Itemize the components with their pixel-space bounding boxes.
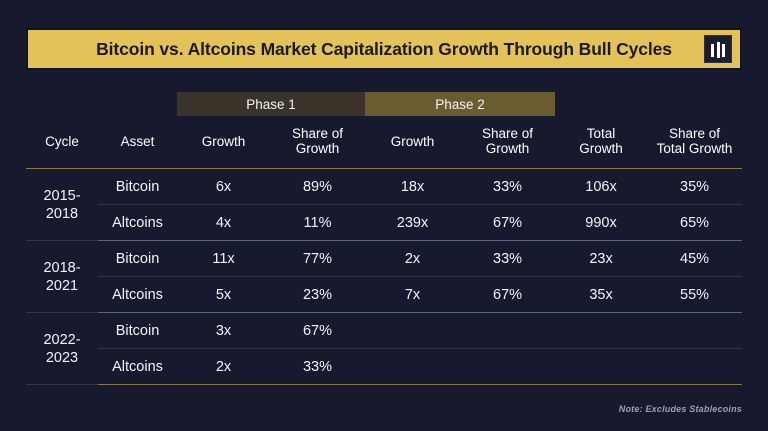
column-header-total_growth: TotalGrowth [555, 116, 647, 169]
cell-total_growth [555, 313, 647, 349]
col-header-label: Cycle [45, 134, 79, 149]
column-header-row: CycleAssetGrowthShare ofGrowthGrowthShar… [26, 116, 742, 169]
column-header-p1_growth: Growth [177, 116, 270, 169]
table-row: Altcoins4x11%239x67%990x65% [26, 205, 742, 241]
cycle-label-line2: 2018 [46, 206, 78, 222]
asset-label: Altcoins [98, 205, 177, 241]
phase-spacer-total [555, 92, 647, 116]
cell-p2_growth: 18x [365, 169, 460, 205]
market-cap-growth-table: Phase 1Phase 2CycleAssetGrowthShare ofGr… [26, 92, 742, 385]
cell-total_share: 65% [647, 205, 742, 241]
column-header-p2_share: Share ofGrowth [460, 116, 555, 169]
cell-p1_growth: 5x [177, 277, 270, 313]
cycle-label-line2: 2023 [46, 350, 78, 366]
cell-p1_growth: 4x [177, 205, 270, 241]
cycle-label: 2018-2021 [26, 241, 98, 313]
cell-total_share: 45% [647, 241, 742, 277]
cell-total_growth: 35x [555, 277, 647, 313]
cell-p1_growth: 6x [177, 169, 270, 205]
col-header-line2: Growth [579, 141, 623, 156]
footnote: Note: Excludes Stablecoins [619, 404, 742, 414]
cycle-label-line2: 2021 [46, 278, 78, 294]
cell-total_growth [555, 349, 647, 385]
cell-p1_share: 23% [270, 277, 365, 313]
group-header-phase-1: Phase 1 [177, 92, 365, 116]
three-bars-logo-icon [704, 35, 732, 63]
cell-p2_share: 33% [460, 169, 555, 205]
phase-spacer-total-share [647, 92, 742, 116]
col-header-line1: Share of [482, 126, 533, 141]
cell-p2_growth [365, 349, 460, 385]
logo-bar-left [711, 44, 714, 57]
group-header-phase-2: Phase 2 [365, 92, 555, 116]
table-row: Altcoins2x33% [26, 349, 742, 385]
cell-total_growth: 106x [555, 169, 647, 205]
col-header-line2: Growth [486, 141, 530, 156]
table-row: 2015-2018Bitcoin6x89%18x33%106x35% [26, 169, 742, 205]
asset-label: Bitcoin [98, 313, 177, 349]
cell-p2_share: 67% [460, 205, 555, 241]
cell-p1_growth: 3x [177, 313, 270, 349]
title-bar: Bitcoin vs. Altcoins Market Capitalizati… [26, 28, 742, 70]
cell-p1_share: 67% [270, 313, 365, 349]
logo-bar-right [722, 44, 725, 57]
column-header-cycle: Cycle [26, 116, 98, 169]
cell-total_share [647, 313, 742, 349]
column-header-p1_share: Share ofGrowth [270, 116, 365, 169]
col-header-line1: Share of [669, 126, 720, 141]
logo-bar-center [717, 42, 720, 58]
phase-spacer-cycle [26, 92, 98, 116]
cell-p1_growth: 11x [177, 241, 270, 277]
cell-p2_share [460, 349, 555, 385]
cycle-label: 2022-2023 [26, 313, 98, 385]
cell-p1_share: 89% [270, 169, 365, 205]
data-table-container: Phase 1Phase 2CycleAssetGrowthShare ofGr… [26, 92, 742, 385]
column-header-asset: Asset [98, 116, 177, 169]
cell-total_share: 55% [647, 277, 742, 313]
table-row: 2022-2023Bitcoin3x67% [26, 313, 742, 349]
col-header-line1: Share of [292, 126, 343, 141]
col-header-label: Growth [202, 134, 246, 149]
cell-p1_share: 11% [270, 205, 365, 241]
cell-p2_growth [365, 313, 460, 349]
cell-p2_growth: 7x [365, 277, 460, 313]
column-header-p2_growth: Growth [365, 116, 460, 169]
cell-p2_growth: 2x [365, 241, 460, 277]
phase-header-row: Phase 1Phase 2 [26, 92, 742, 116]
asset-label: Altcoins [98, 277, 177, 313]
cycle-label-line1: 2022- [43, 332, 80, 348]
cell-p1_share: 33% [270, 349, 365, 385]
cell-p1_share: 77% [270, 241, 365, 277]
asset-label: Bitcoin [98, 241, 177, 277]
cycle-label: 2015-2018 [26, 169, 98, 241]
cell-p2_growth: 239x [365, 205, 460, 241]
page-title: Bitcoin vs. Altcoins Market Capitalizati… [28, 39, 740, 60]
col-header-line2: Total Growth [657, 141, 733, 156]
table-row: 2018-2021Bitcoin11x77%2x33%23x45% [26, 241, 742, 277]
cell-p2_share: 33% [460, 241, 555, 277]
cell-total_share: 35% [647, 169, 742, 205]
asset-label: Bitcoin [98, 169, 177, 205]
col-header-label: Growth [391, 134, 435, 149]
col-header-line1: Total [587, 126, 616, 141]
asset-label: Altcoins [98, 349, 177, 385]
table-row: Altcoins5x23%7x67%35x55% [26, 277, 742, 313]
column-header-total_share: Share ofTotal Growth [647, 116, 742, 169]
cell-p1_growth: 2x [177, 349, 270, 385]
phase-spacer-asset [98, 92, 177, 116]
cell-total_share [647, 349, 742, 385]
cycle-label-line1: 2015- [43, 188, 80, 204]
cell-p2_share [460, 313, 555, 349]
cell-p2_share: 67% [460, 277, 555, 313]
cell-total_growth: 990x [555, 205, 647, 241]
cycle-label-line1: 2018- [43, 260, 80, 276]
cell-total_growth: 23x [555, 241, 647, 277]
col-header-line2: Growth [296, 141, 340, 156]
col-header-label: Asset [121, 134, 155, 149]
